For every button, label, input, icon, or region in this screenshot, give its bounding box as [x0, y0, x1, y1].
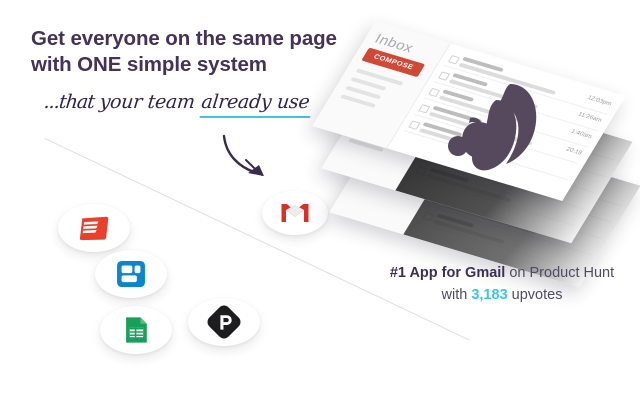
wunderlist-icon	[76, 210, 112, 246]
promo-banner: Get everyone on the same page with ONE s…	[0, 0, 640, 400]
squirrel-mascot-icon	[448, 78, 540, 183]
product-hunt-caption: #1 App for Gmail on Product Hunt with 3,…	[378, 262, 626, 307]
row-time: 1:40am	[570, 129, 593, 140]
caption-line2-prefix: with	[442, 287, 472, 303]
caption-bold-part: #1 App for Gmail	[390, 265, 505, 281]
upvote-count: 3,183	[471, 287, 507, 303]
curved-arrow-icon	[220, 132, 284, 184]
script-middle: your team	[93, 91, 202, 113]
script-subline: ...that your team already use	[44, 91, 310, 125]
app-bubble-google-sheets[interactable]	[100, 306, 172, 354]
row-time: 12:03pm	[586, 95, 612, 107]
app-bubble-trello[interactable]	[95, 250, 167, 298]
app-bubble-product-hunt[interactable]	[188, 298, 260, 346]
script-underlined-phrase: already use	[199, 91, 311, 113]
gmail-icon	[280, 198, 310, 228]
script-lead: ...that	[43, 91, 95, 113]
headline-line-2: with ONE simple system	[31, 52, 361, 78]
app-bubble-wunderlist[interactable]	[58, 204, 130, 252]
row-time: 11:26am	[577, 112, 603, 124]
caption-rest-part: on Product Hunt	[505, 265, 614, 281]
product-hunt-icon	[206, 304, 242, 340]
google-sheets-icon	[118, 312, 154, 348]
row-time: 20:18	[565, 147, 583, 157]
page-title: Get everyone on the same page with ONE s…	[31, 26, 361, 78]
caption-line2-suffix: upvotes	[508, 287, 563, 303]
trello-icon	[113, 256, 149, 292]
app-bubble-gmail[interactable]	[262, 191, 328, 235]
headline-line-1: Get everyone on the same page	[31, 26, 361, 52]
